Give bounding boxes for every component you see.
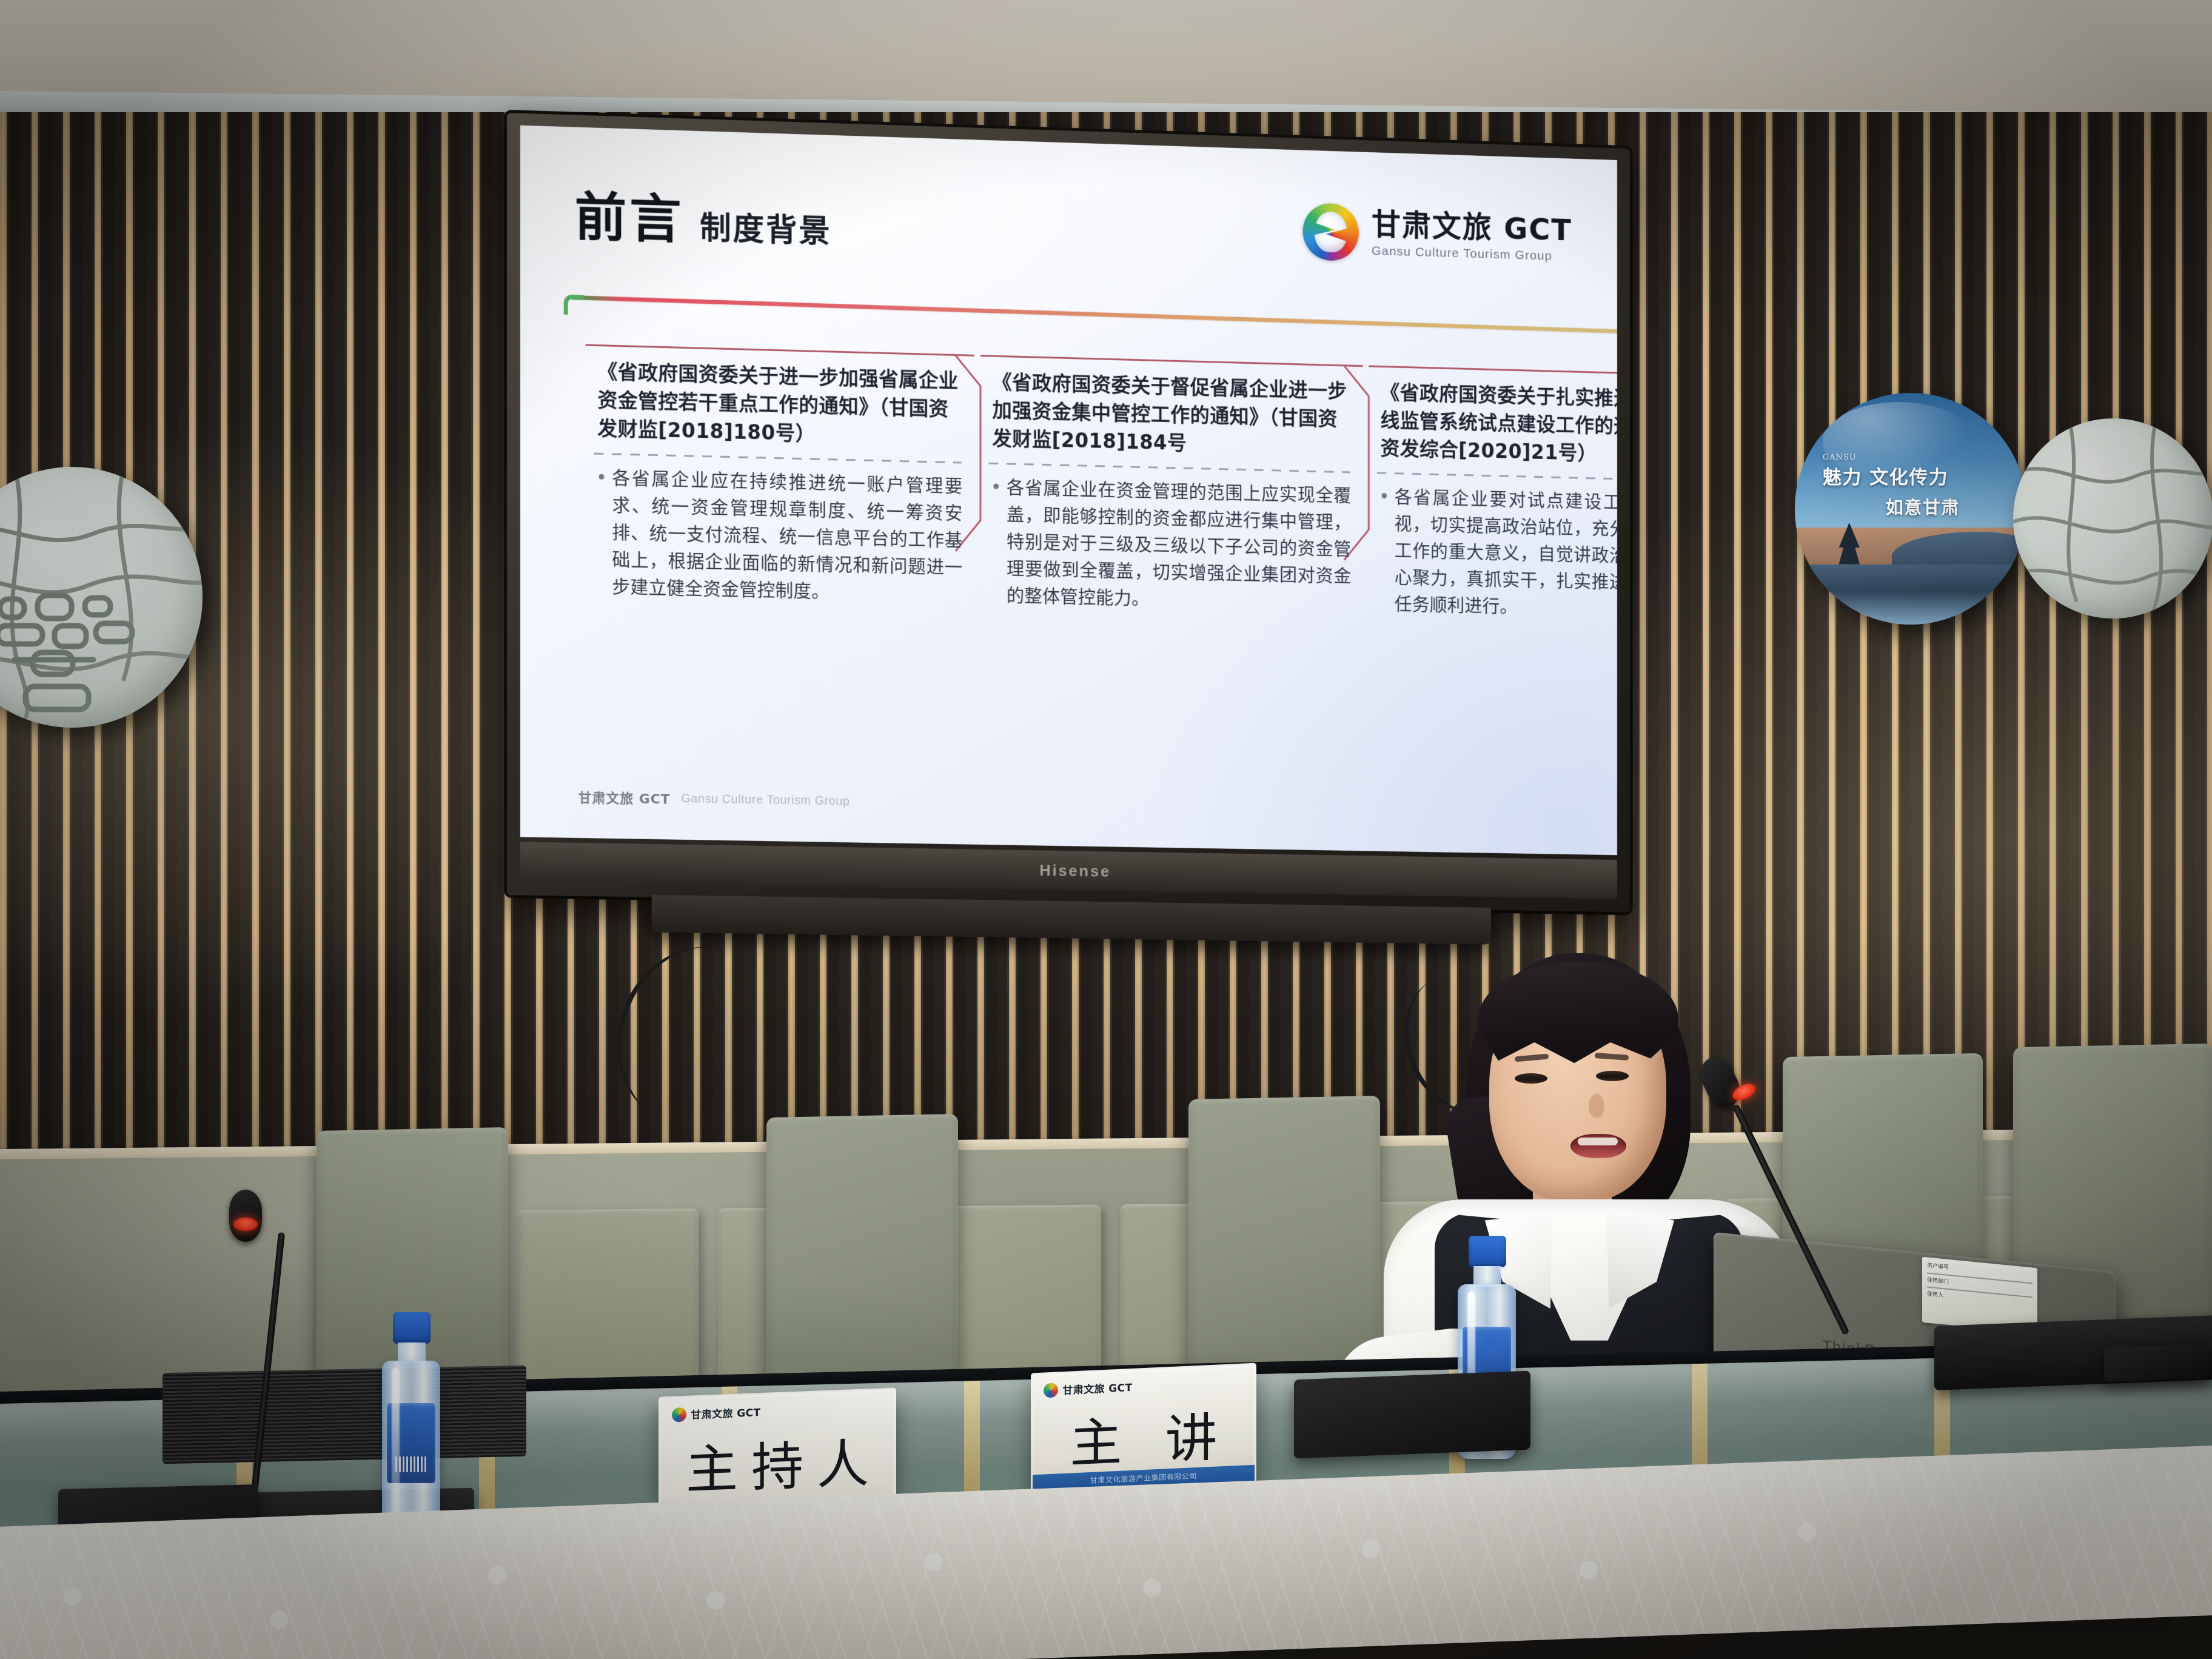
- column-bullet-text-2: 各省属企业在资金管理的范围上应实现全覆盖，即能够控制的资金都应进行集中管理，特别…: [1007, 474, 1352, 617]
- slide-title-sub: 制度背景: [700, 203, 831, 252]
- bottle-cap: [393, 1312, 431, 1344]
- display-bezel: 前言 制度背景 甘肃文旅 GCT Gansu Culture Tourism G…: [520, 126, 1617, 856]
- slide-divider: [571, 295, 1617, 350]
- placard-logo-speaker: 甘肃文旅 GCT: [1044, 1379, 1132, 1398]
- column-bullet-3: 各省属企业要对试点建设工作任务高度重视，切实提高政治站位，充分认识试点建设工作的…: [1372, 474, 1617, 625]
- remote-control[interactable]: [2104, 1344, 2208, 1382]
- ceramic-wall-disc-left: [0, 467, 203, 728]
- bullet-dot-icon-2: [993, 483, 999, 489]
- slide-footer-en: Gansu Culture Tourism Group: [681, 792, 850, 809]
- name-placard-speaker: 甘肃文旅 GCT 主 讲 甘肃文化旅游产业集团有限公司: [1031, 1363, 1256, 1502]
- ceramic-wall-disc-far-right: [2013, 418, 2212, 618]
- bottle-neck: [1473, 1266, 1501, 1287]
- document-folder-right[interactable]: [1294, 1371, 1530, 1459]
- slide-logo-cn: 甘肃文旅 GCT: [1372, 209, 1572, 245]
- slide-column-1: 《省政府国资委关于进一步加强省属企业资金管控若干重点工作的通知》（甘国资发财监[…: [586, 344, 975, 856]
- slide-title-main: 前言: [575, 174, 685, 253]
- column-bullet-1: 各省属企业应在持续推进统一账户管理要求、统一资金管理规章制度、统一筹资安排、统一…: [589, 454, 971, 608]
- presentation-slide: 前言 制度背景 甘肃文旅 GCT Gansu Culture Tourism G…: [520, 126, 1617, 856]
- column-bullet-text-1: 各省属企业应在持续推进统一账户管理要求、统一资金管理规章制度、统一筹资安排、统一…: [612, 464, 962, 608]
- slide-logo-en: Gansu Culture Tourism Group: [1372, 244, 1572, 263]
- disc-gloss-right: [1823, 402, 1976, 481]
- slide-logo: 甘肃文旅 GCT Gansu Culture Tourism Group: [1302, 203, 1572, 267]
- placard-name-host: 主持人: [660, 1420, 894, 1505]
- disc-line-art-left: [0, 467, 203, 728]
- slide-column-2: 《省政府国资委关于督促省属企业进一步加强资金集中管控工作的通知》（甘国资发财监[…: [980, 355, 1363, 855]
- bullet-dot-icon-1: [598, 474, 604, 479]
- presenter-eye-right: [1596, 1071, 1629, 1081]
- bullet-dot-icon-3: [1382, 493, 1387, 498]
- presenter-eye-left: [1515, 1073, 1547, 1084]
- slide-header: 前言 制度背景: [575, 174, 832, 257]
- mic-capsule-left[interactable]: [229, 1190, 262, 1242]
- conference-room-photo: GANSU 魅力 文化传力 如意甘肃 前言 制: [0, 0, 2212, 1659]
- gct-logo-icon-speaker: [1044, 1382, 1058, 1398]
- bottle-cap: [1469, 1236, 1506, 1267]
- gct-swirl-logo-icon: [1302, 203, 1359, 261]
- slide-logo-text: 甘肃文旅 GCT Gansu Culture Tourism Group: [1372, 209, 1572, 263]
- slide-footer-cn: 甘肃文旅 GCT: [578, 787, 671, 808]
- column-header-3: 《省政府国资委关于扎实推进国资国企在线监管系统试点建设工作的通知》（甘国资发综合…: [1372, 366, 1617, 472]
- placard-logo-host: 甘肃文旅 GCT: [672, 1404, 760, 1423]
- bottle-neck: [398, 1342, 426, 1363]
- column-bullet-text-3: 各省属企业要对试点建设工作任务高度重视，切实提高政治站位，充分认识试点建设工作的…: [1395, 483, 1617, 625]
- slide-columns: 《省政府国资委关于进一步加强省属企业资金管控若干重点工作的通知》（甘国资发财监[…: [586, 344, 1617, 856]
- disc-line-art-far: [2013, 418, 2212, 618]
- disc-line2: 如意甘肃: [1886, 494, 2008, 519]
- column-bullet-2: 各省属企业在资金管理的范围上应实现全覆盖，即能够控制的资金都应进行集中管理，特别…: [984, 464, 1359, 617]
- disc-water: [1795, 565, 2026, 625]
- placard-logo-text-host: 甘肃文旅 GCT: [691, 1404, 760, 1421]
- photo-wall-disc-right: GANSU 魅力 文化传力 如意甘肃: [1795, 393, 2026, 625]
- column-header-2: 《省政府国资委关于督促省属企业进一步加强资金集中管控工作的通知》（甘国资发财监[…: [984, 355, 1359, 461]
- mic-unit-panel-left: [163, 1366, 526, 1464]
- column-header-1: 《省政府国资委关于进一步加强省属企业资金管控若干重点工作的通知》（甘国资发财监[…: [589, 344, 971, 452]
- bottle-highlight: [392, 1368, 400, 1520]
- mic-led-ring-left: [233, 1218, 258, 1231]
- wall-display[interactable]: 前言 制度背景 甘肃文旅 GCT Gansu Culture Tourism G…: [507, 113, 1630, 912]
- conference-chair[interactable]: [766, 1114, 958, 1403]
- slide-column-3: 《省政府国资委关于扎实推进国资国企在线监管系统试点建设工作的通知》（甘国资发综合…: [1369, 365, 1617, 855]
- gct-logo-icon-host: [672, 1407, 686, 1423]
- laptop-asset-sticker: 资产编号 使用部门 使用人: [1922, 1257, 2037, 1334]
- presenter-nose: [1589, 1094, 1604, 1118]
- placard-logo-text-speaker: 甘肃文旅 GCT: [1062, 1379, 1132, 1397]
- presenter-teeth: [1578, 1138, 1618, 1145]
- water-bottle-left[interactable]: [380, 1312, 443, 1535]
- display-brand-label: Hisense: [1039, 861, 1111, 881]
